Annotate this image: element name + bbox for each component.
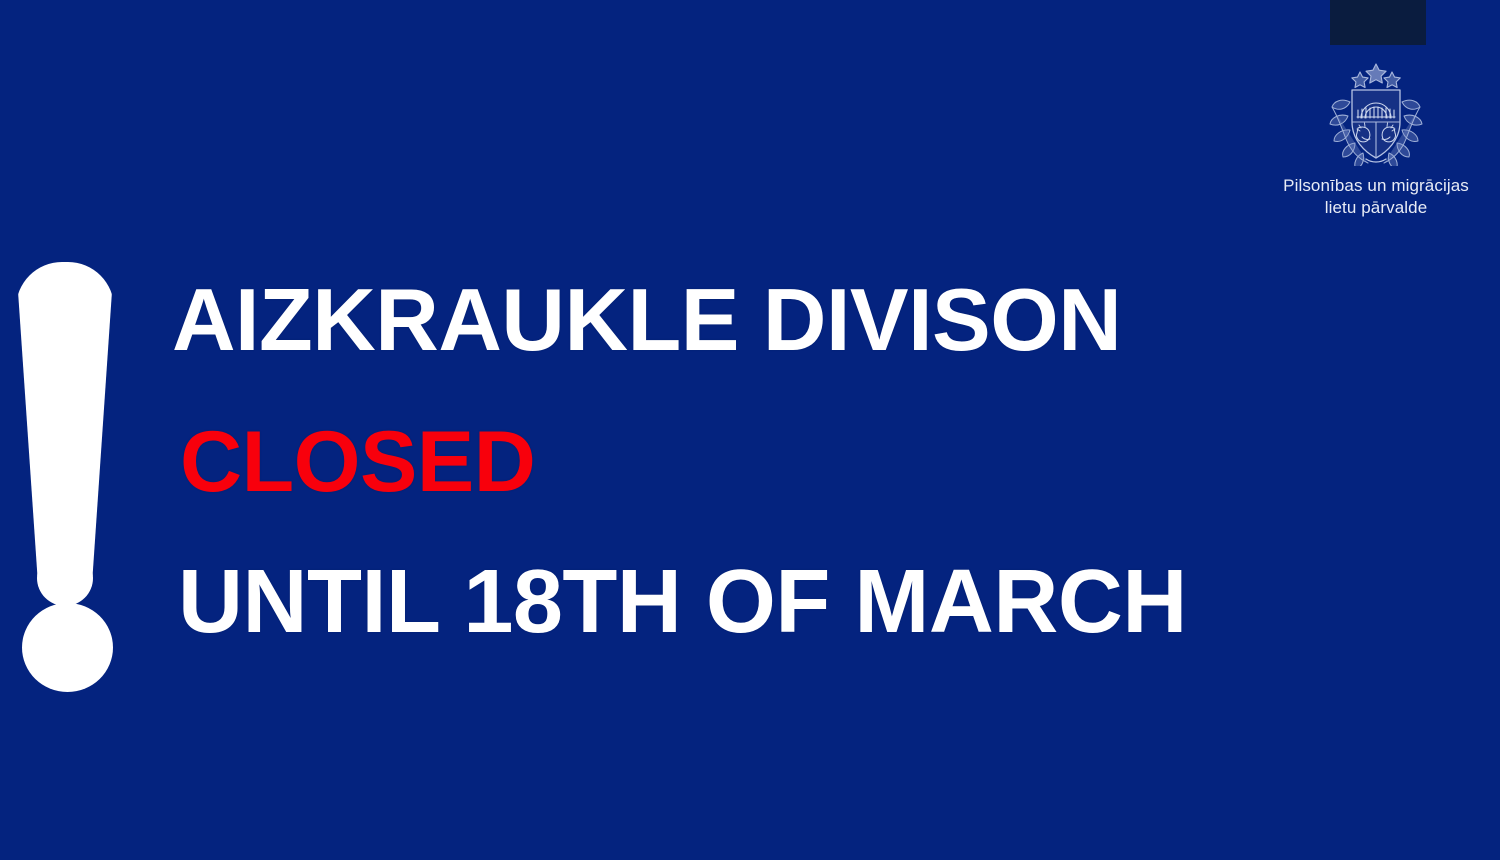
exclamation-stem-cap (37, 550, 93, 606)
agency-logo: Pilsonības un migrācijas lietu pārvalde (1262, 58, 1490, 220)
exclamation-mark-icon (16, 262, 116, 692)
exclamation-stem (16, 262, 114, 592)
notice-message: AIZKRAUKLE DIVISON CLOSED UNTIL 18TH OF … (172, 276, 1232, 647)
header-plate (1330, 0, 1426, 45)
notice-status: CLOSED (180, 419, 1232, 505)
exclamation-dot (22, 603, 113, 692)
notice-headline: AIZKRAUKLE DIVISON (172, 276, 1232, 364)
latvian-coat-of-arms-icon (1324, 58, 1428, 166)
agency-name-caption: Pilsonības un migrācijas lietu pārvalde (1262, 175, 1490, 220)
notice-duration: UNTIL 18TH OF MARCH (178, 557, 1232, 647)
closure-notice-poster: Pilsonības un migrācijas lietu pārvalde … (0, 0, 1500, 860)
